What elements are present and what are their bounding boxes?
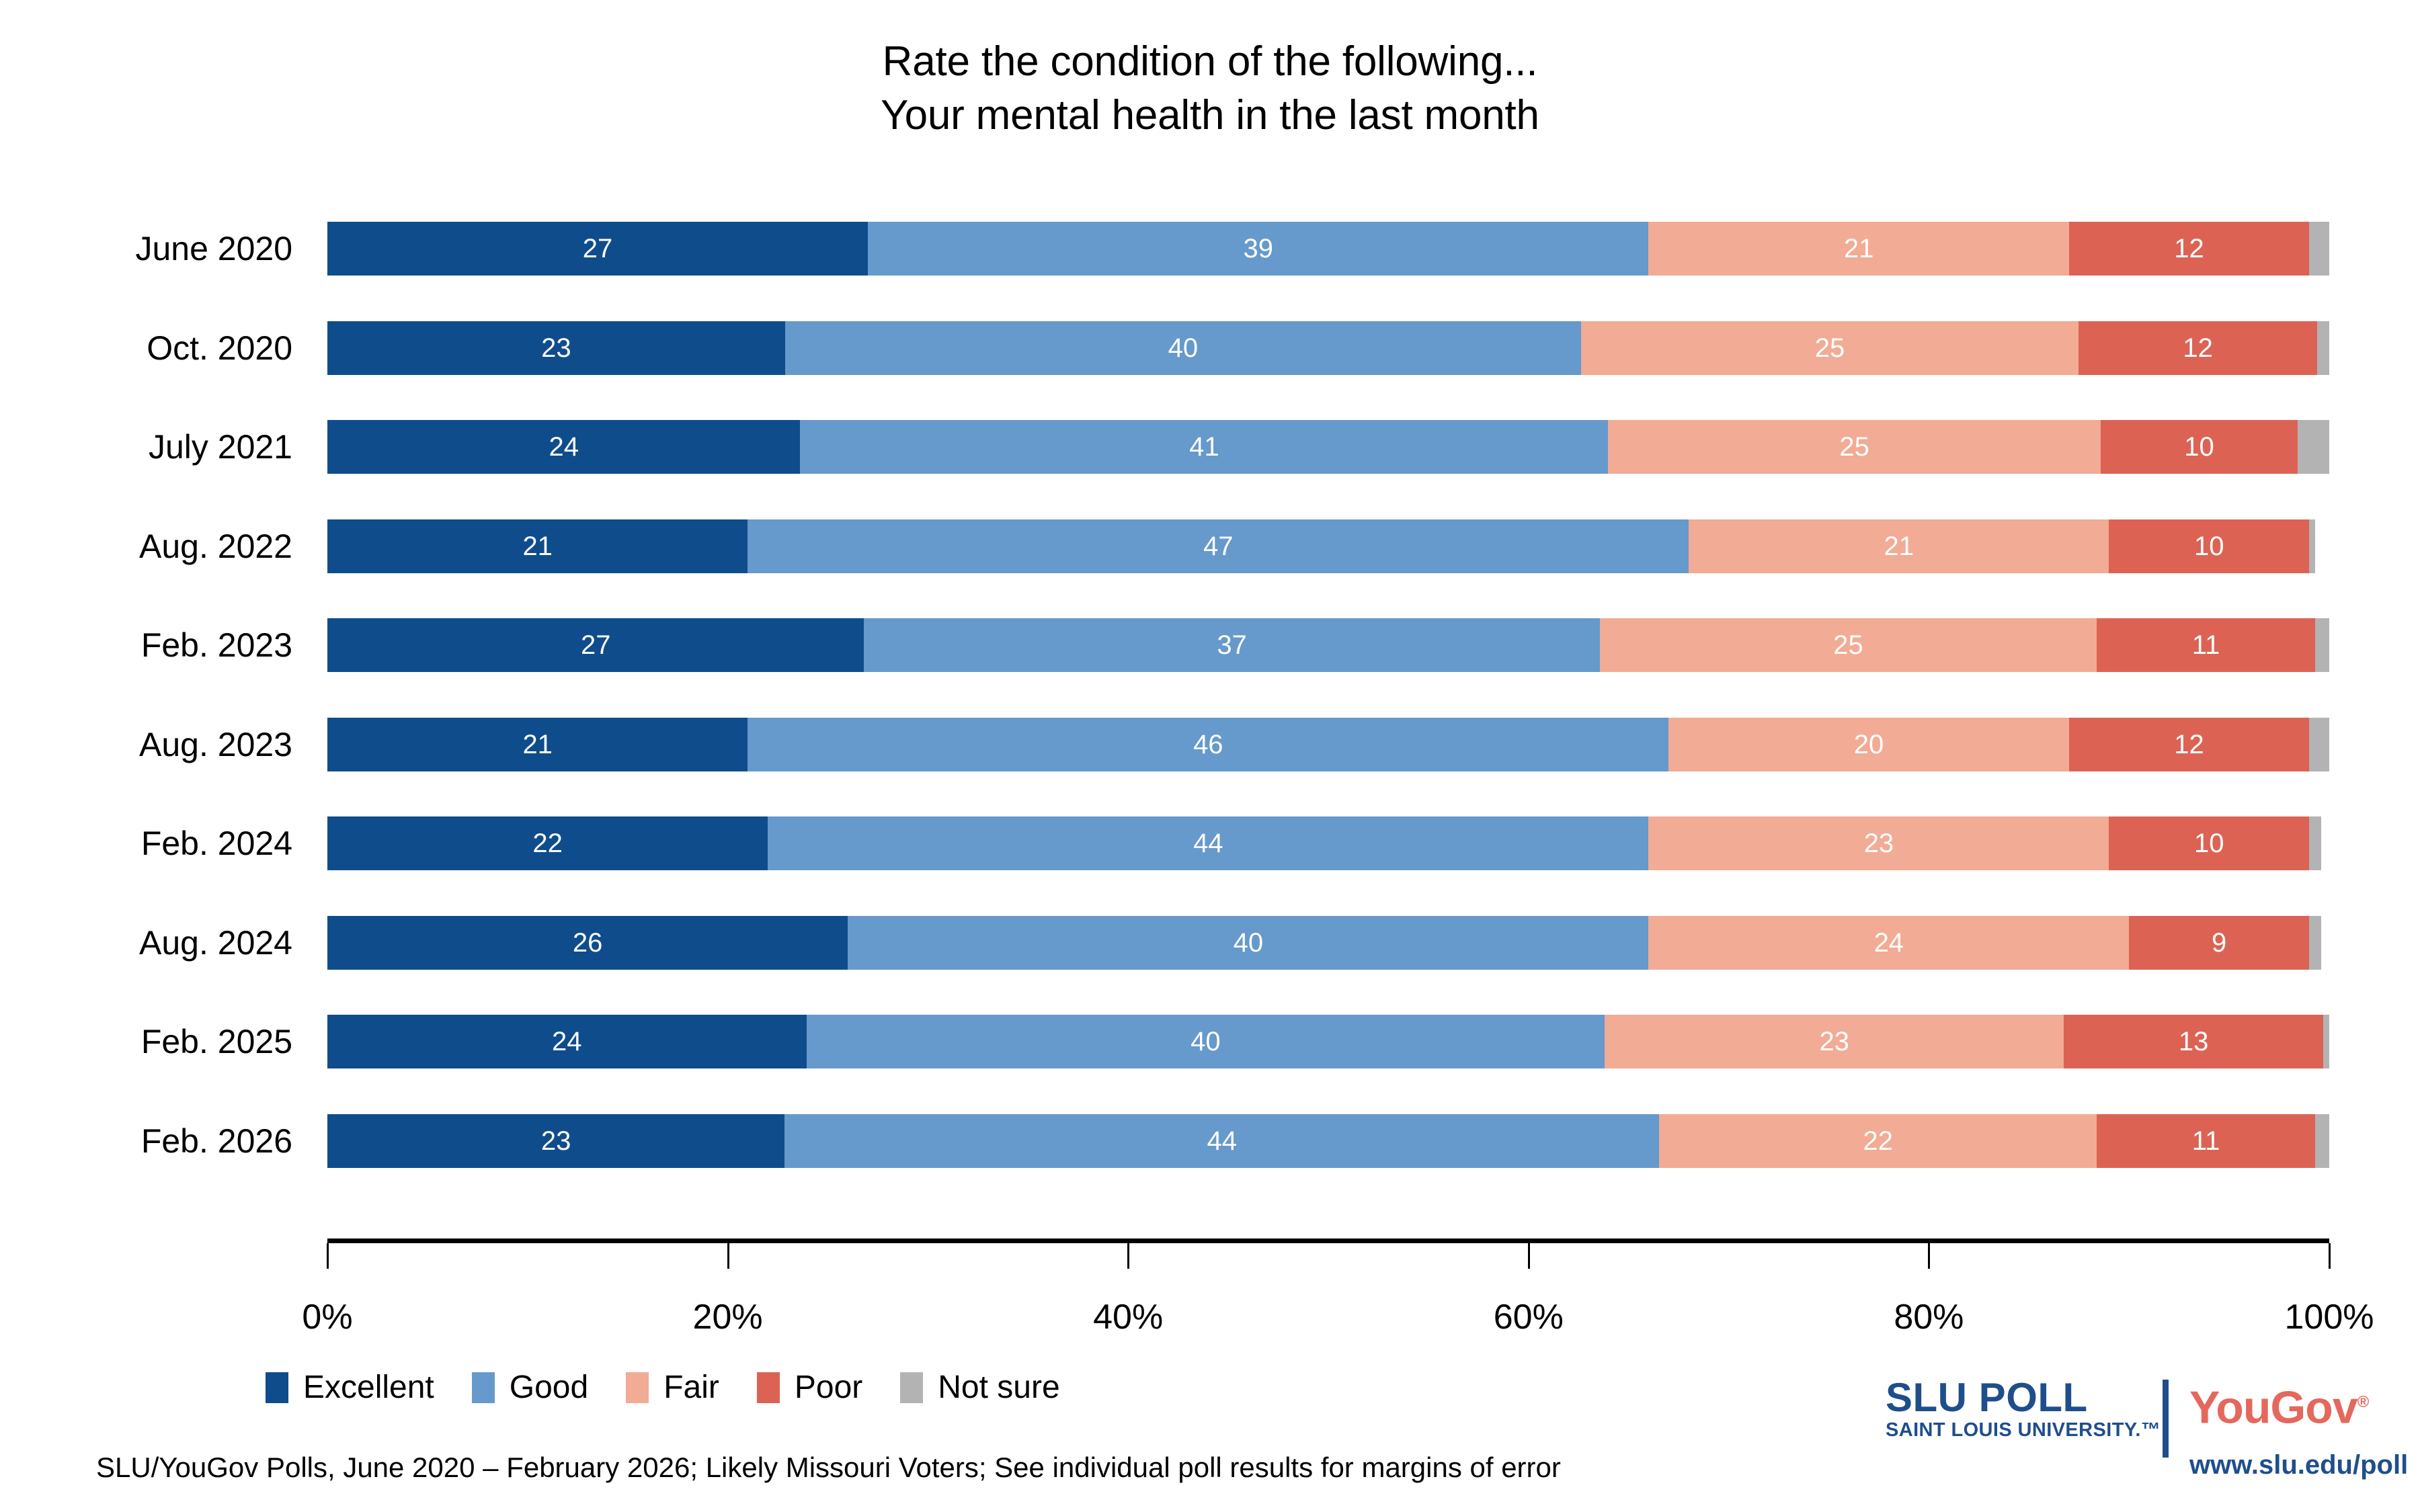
bar-segment-poor[interactable]: 9	[2129, 916, 2309, 970]
bar-row[interactable]: 21472110	[327, 519, 2329, 573]
bar-segment-good[interactable]: 39	[868, 222, 1648, 276]
bar-segment-value-label: 27	[583, 235, 613, 262]
x-axis-tick-label: 20%	[627, 1297, 829, 1337]
bar-segment-good[interactable]: 37	[864, 618, 1599, 672]
bar-segment-fair[interactable]: 25	[1581, 321, 2079, 375]
bar-segment-value-label: 44	[1207, 1128, 1238, 1154]
y-axis-category-label: Aug. 2022	[10, 519, 292, 573]
bar-segment-not-sure[interactable]	[2315, 618, 2329, 672]
bar-segment-poor[interactable]: 11	[2097, 618, 2315, 672]
yougov-wordmark: YouGov	[2189, 1382, 2357, 1433]
bar-segment-good[interactable]: 44	[768, 816, 1648, 870]
x-axis-tick-label: 100%	[2228, 1297, 2420, 1337]
bar-segment-value-label: 46	[1193, 731, 1223, 758]
bar-segment-value-label: 21	[522, 533, 553, 560]
legend-label: Fair	[663, 1371, 719, 1404]
bar-segment-fair[interactable]: 23	[1648, 816, 2109, 870]
bar-row[interactable]: 27372511	[327, 618, 2329, 672]
bar-segment-fair[interactable]: 21	[1689, 519, 2109, 573]
yougov-logo: YouGov®	[2189, 1378, 2368, 1432]
x-axis-tick-label: 0%	[227, 1297, 428, 1337]
chart-legend: ExcellentGoodFairPoorNot sure	[266, 1368, 1098, 1408]
legend-label: Not sure	[938, 1371, 1059, 1404]
bar-segment-value-label: 41	[1189, 433, 1219, 460]
bar-segment-fair[interactable]: 22	[1659, 1114, 2097, 1168]
bar-row[interactable]: 23442211	[327, 1114, 2329, 1168]
bar-segment-not-sure[interactable]	[2298, 420, 2329, 474]
bar-segment-fair[interactable]: 24	[1648, 916, 2129, 970]
y-axis-category-label: June 2020	[10, 222, 292, 276]
legend-swatch-icon	[626, 1372, 649, 1403]
legend-item-not-sure[interactable]: Not sure	[900, 1371, 1059, 1404]
legend-item-excellent[interactable]: Excellent	[266, 1371, 434, 1404]
bar-segment-value-label: 12	[2174, 235, 2204, 262]
bar-segment-excellent[interactable]: 22	[327, 816, 768, 870]
bar-segment-poor[interactable]: 10	[2109, 519, 2309, 573]
bar-segment-value-label: 24	[549, 433, 579, 460]
bar-segment-value-label: 9	[2212, 929, 2226, 956]
bar-segment-value-label: 40	[1234, 929, 1264, 956]
x-axis-tick	[1127, 1243, 1129, 1269]
bar-segment-value-label: 25	[1815, 335, 1845, 362]
bar-segment-not-sure[interactable]	[2309, 519, 2315, 573]
legend-item-fair[interactable]: Fair	[626, 1371, 719, 1404]
bar-segment-fair[interactable]: 21	[1648, 222, 2068, 276]
bar-segment-not-sure[interactable]	[2309, 222, 2329, 276]
bar-segment-value-label: 12	[2174, 731, 2204, 758]
bar-segment-poor[interactable]: 11	[2097, 1114, 2315, 1168]
bar-segment-value-label: 24	[1874, 929, 1904, 956]
stacked-bar-chart-plot: 2739211223402512244125102147211027372511…	[327, 222, 2329, 1196]
bar-segment-excellent[interactable]: 21	[327, 519, 748, 573]
x-axis-line	[327, 1238, 2329, 1243]
bar-segment-good[interactable]: 40	[807, 1015, 1605, 1068]
y-axis-category-label: Aug. 2023	[10, 718, 292, 771]
legend-swatch-icon	[266, 1372, 288, 1403]
bar-segment-poor[interactable]: 12	[2069, 718, 2309, 771]
bar-segment-value-label: 21	[522, 731, 553, 758]
chart-title-line-1: Rate the condition of the following...	[0, 35, 2420, 89]
y-axis-category-label: Feb. 2025	[10, 1015, 292, 1068]
bar-segment-not-sure[interactable]	[2315, 1114, 2329, 1168]
bar-segment-excellent[interactable]: 24	[327, 1015, 807, 1068]
chart-title: Rate the condition of the following... Y…	[0, 35, 2420, 142]
bar-row[interactable]: 22442310	[327, 816, 2329, 870]
bar-row[interactable]: 21462012	[327, 718, 2329, 771]
bar-segment-value-label: 47	[1203, 533, 1234, 560]
registered-trademark-icon: ®	[2357, 1393, 2369, 1411]
bar-segment-value-label: 37	[1217, 632, 1247, 659]
bar-row[interactable]: 27392112	[327, 222, 2329, 276]
y-axis-category-label: Feb. 2024	[10, 816, 292, 870]
bar-segment-value-label: 11	[2192, 1128, 2220, 1154]
bar-segment-good[interactable]: 46	[748, 718, 1668, 771]
slu-poll-logo: SLU POLL SAINT LOUIS UNIVERSITY.™	[1886, 1377, 2149, 1441]
bar-segment-fair[interactable]: 25	[1608, 420, 2101, 474]
x-axis-tick	[1928, 1243, 1930, 1269]
slu-poll-wordmark: SLU POLL	[1886, 1377, 2149, 1419]
bar-segment-good[interactable]: 41	[800, 420, 1608, 474]
bar-row[interactable]: 24402313	[327, 1015, 2329, 1068]
bar-segment-poor[interactable]: 13	[2064, 1015, 2323, 1068]
y-axis-category-label: Oct. 2020	[10, 321, 292, 375]
legend-item-good[interactable]: Good	[472, 1371, 588, 1404]
bar-segment-value-label: 25	[1839, 433, 1869, 460]
legend-label: Excellent	[303, 1371, 434, 1404]
bar-segment-value-label: 23	[541, 335, 571, 362]
bar-segment-value-label: 22	[1863, 1128, 1893, 1154]
bar-segment-value-label: 10	[2194, 533, 2224, 560]
bar-segment-good[interactable]: 40	[785, 321, 1581, 375]
saint-louis-university-wordmark: SAINT LOUIS UNIVERSITY.™	[1886, 1419, 2149, 1441]
bar-segment-value-label: 40	[1191, 1028, 1221, 1055]
bar-row[interactable]: 23402512	[327, 321, 2329, 375]
x-axis-tick-label: 80%	[1828, 1297, 2029, 1337]
chart-title-line-2: Your mental health in the last month	[0, 89, 2420, 142]
branding-logos: SLU POLL SAINT LOUIS UNIVERSITY.™ YouGov…	[1886, 1368, 2396, 1495]
bar-segment-value-label: 21	[1884, 533, 1914, 560]
y-axis-category-label: July 2021	[10, 420, 292, 474]
bar-segment-value-label: 13	[2179, 1028, 2209, 1055]
x-axis-tick	[727, 1243, 729, 1269]
bar-segment-value-label: 24	[552, 1028, 582, 1055]
legend-swatch-icon	[757, 1372, 780, 1403]
bar-segment-value-label: 23	[1864, 830, 1894, 857]
bar-segment-fair[interactable]: 25	[1600, 618, 2097, 672]
legend-label: Good	[510, 1371, 588, 1404]
x-axis-tick-label: 40%	[1027, 1297, 1229, 1337]
bar-segment-good[interactable]: 40	[848, 916, 1648, 970]
bar-segment-excellent[interactable]: 27	[327, 222, 868, 276]
bar-segment-not-sure[interactable]	[2323, 1015, 2329, 1068]
legend-item-poor[interactable]: Poor	[757, 1371, 862, 1404]
bar-segment-value-label: 23	[541, 1128, 571, 1154]
x-axis-tick	[2329, 1243, 2331, 1269]
bar-segment-value-label: 39	[1244, 235, 1274, 262]
x-axis-tick	[1528, 1243, 1530, 1269]
legend-swatch-icon	[900, 1372, 923, 1403]
bar-segment-excellent[interactable]: 21	[327, 718, 748, 771]
legend-swatch-icon	[472, 1372, 495, 1403]
source-footnote: SLU/YouGov Polls, June 2020 – February 2…	[96, 1450, 1561, 1485]
bar-segment-excellent[interactable]: 27	[327, 618, 864, 672]
bar-segment-excellent[interactable]: 23	[327, 321, 785, 375]
bar-segment-value-label: 22	[532, 830, 563, 857]
bar-segment-poor[interactable]: 12	[2069, 222, 2309, 276]
bar-segment-value-label: 25	[1833, 632, 1863, 659]
bar-segment-value-label: 26	[573, 929, 603, 956]
logo-divider	[2163, 1380, 2169, 1458]
bar-segment-value-label: 12	[2183, 335, 2213, 362]
bar-segment-not-sure[interactable]	[2317, 321, 2329, 375]
legend-label: Poor	[795, 1371, 862, 1404]
bar-segment-excellent[interactable]: 26	[327, 916, 848, 970]
bar-segment-value-label: 11	[2192, 632, 2220, 659]
x-axis-tick	[327, 1243, 329, 1269]
slu-poll-url[interactable]: www.slu.edu/poll	[2189, 1450, 2408, 1480]
x-axis-tick-label: 60%	[1428, 1297, 1629, 1337]
bar-segment-poor[interactable]: 10	[2101, 420, 2298, 474]
bar-segment-poor[interactable]: 10	[2109, 816, 2309, 870]
bar-segment-value-label: 44	[1193, 830, 1223, 857]
y-axis-category-label: Feb. 2026	[10, 1114, 292, 1168]
bar-segment-excellent[interactable]: 23	[327, 1114, 784, 1168]
bar-segment-poor[interactable]: 12	[2079, 321, 2317, 375]
bar-row[interactable]: 2640249	[327, 916, 2329, 970]
bar-segment-value-label: 27	[581, 632, 611, 659]
bar-segment-value-label: 10	[2184, 433, 2214, 460]
y-axis-category-label: Aug. 2024	[10, 916, 292, 970]
bar-segment-value-label: 21	[1844, 235, 1874, 262]
bar-row[interactable]: 24412510	[327, 420, 2329, 474]
bar-segment-excellent[interactable]: 24	[327, 420, 800, 474]
bar-segment-not-sure[interactable]	[2309, 916, 2321, 970]
bar-segment-value-label: 23	[1819, 1028, 1849, 1055]
bar-segment-not-sure[interactable]	[2309, 718, 2329, 771]
bar-segment-good[interactable]: 44	[784, 1114, 1659, 1168]
bar-segment-not-sure[interactable]	[2309, 816, 2321, 870]
bar-segment-fair[interactable]: 23	[1605, 1015, 2064, 1068]
bar-segment-value-label: 40	[1168, 335, 1199, 362]
bar-segment-fair[interactable]: 20	[1668, 718, 2069, 771]
bar-segment-value-label: 10	[2194, 830, 2224, 857]
y-axis-category-label: Feb. 2023	[10, 618, 292, 672]
bar-segment-value-label: 20	[1854, 731, 1884, 758]
bar-segment-good[interactable]: 47	[748, 519, 1689, 573]
